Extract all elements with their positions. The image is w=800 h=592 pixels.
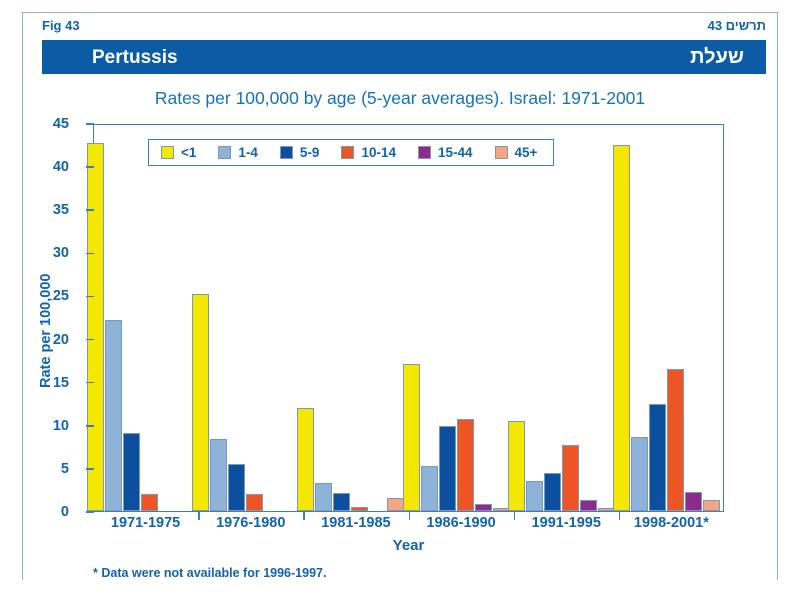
x-axis-tick-mark bbox=[198, 512, 200, 520]
disease-name-hebrew: שעלת bbox=[690, 46, 744, 69]
x-axis-tick-label: 1998-2001* bbox=[634, 515, 709, 531]
bar-1976-1980-10-14 bbox=[246, 494, 263, 511]
bar-1971-1975-10-14 bbox=[141, 494, 158, 511]
x-axis-tick-label: 1986-1990 bbox=[426, 515, 495, 531]
bar-1991-1995-10-14 bbox=[562, 445, 579, 511]
legend-swatch-icon bbox=[161, 146, 174, 159]
chart-legend: <11-45-910-1415-4445+ bbox=[148, 139, 554, 166]
bar-1986-1990-10-14 bbox=[457, 419, 474, 511]
x-axis-tick-label: 1991-1995 bbox=[532, 515, 601, 531]
plot-area bbox=[93, 124, 724, 512]
bar-1971-1975-1-4 bbox=[105, 320, 122, 511]
bar-1981-1985-5-9 bbox=[333, 493, 350, 511]
bar-1986-1990-<1 bbox=[403, 364, 420, 511]
bar-1998-2001*-15-44 bbox=[685, 492, 702, 511]
bar-1971-1975-<1 bbox=[87, 143, 104, 511]
bar-1998-2001*-5-9 bbox=[649, 404, 666, 511]
bar-1986-1990-5-9 bbox=[439, 426, 456, 511]
legend-item-<1: <1 bbox=[161, 145, 196, 160]
legend-label: <1 bbox=[181, 145, 196, 160]
bar-1971-1975-5-9 bbox=[123, 433, 140, 511]
footnote: * Data were not available for 1996-1997. bbox=[93, 566, 326, 580]
legend-label: 10-14 bbox=[361, 145, 396, 160]
legend-swatch-icon bbox=[495, 146, 508, 159]
legend-label: 1-4 bbox=[238, 145, 258, 160]
bar-1976-1980-5-9 bbox=[228, 464, 245, 511]
bar-1991-1995-1-4 bbox=[526, 481, 543, 511]
figure-number-hebrew: תרשים 43 bbox=[708, 18, 766, 33]
bar-1976-1980-<1 bbox=[192, 294, 209, 511]
bar-1991-1995-5-9 bbox=[544, 473, 561, 511]
y-axis-tick-mark bbox=[86, 511, 94, 513]
chart-title: Rates per 100,000 by age (5-year average… bbox=[0, 88, 800, 109]
y-axis-tick-label: 25 bbox=[29, 288, 69, 304]
bar-1981-1985-1-4 bbox=[315, 483, 332, 511]
x-axis-tick-mark bbox=[409, 512, 411, 520]
figure-number: Fig 43 bbox=[42, 18, 80, 33]
y-axis-tick-label: 15 bbox=[29, 375, 69, 391]
x-axis-tick-label: 1981-1985 bbox=[321, 515, 390, 531]
legend-item-1-4: 1-4 bbox=[218, 145, 258, 160]
x-axis-tick-label: 1976-1980 bbox=[216, 515, 285, 531]
bar-1981-1985-10-14 bbox=[351, 507, 368, 511]
legend-item-10-14: 10-14 bbox=[341, 145, 396, 160]
y-axis-tick-label: 20 bbox=[29, 332, 69, 348]
y-axis-tick-label: 0 bbox=[29, 504, 69, 520]
y-axis-tick-label: 35 bbox=[29, 202, 69, 218]
legend-item-45+: 45+ bbox=[495, 145, 538, 160]
legend-swatch-icon bbox=[341, 146, 354, 159]
bar-1981-1985-<1 bbox=[297, 408, 314, 511]
disease-title-bar: Pertussis שעלת bbox=[42, 40, 766, 74]
y-axis-tick-mark bbox=[86, 425, 94, 427]
legend-swatch-icon bbox=[280, 146, 293, 159]
y-axis-tick-label: 45 bbox=[29, 116, 69, 132]
bar-1986-1990-15-44 bbox=[475, 504, 492, 511]
figure-page: Fig 43 תרשים 43 Pertussis שעלת Rates per… bbox=[0, 0, 800, 592]
y-axis-tick-mark bbox=[86, 382, 94, 384]
disease-name-english: Pertussis bbox=[92, 47, 178, 69]
legend-label: 15-44 bbox=[438, 145, 473, 160]
y-axis-tick-mark bbox=[86, 339, 94, 341]
legend-item-15-44: 15-44 bbox=[418, 145, 473, 160]
y-axis-tick-label: 5 bbox=[29, 461, 69, 477]
y-axis-tick-mark bbox=[86, 253, 94, 255]
y-axis-tick-mark bbox=[86, 296, 94, 298]
y-axis-tick-mark bbox=[86, 123, 94, 125]
legend-swatch-icon bbox=[418, 146, 431, 159]
bar-1998-2001*-10-14 bbox=[667, 369, 684, 511]
y-axis-tick-mark bbox=[86, 468, 94, 470]
bar-1986-1990-1-4 bbox=[421, 466, 438, 511]
x-axis-title: Year bbox=[93, 537, 724, 554]
legend-label: 45+ bbox=[515, 145, 538, 160]
y-axis-tick-label: 10 bbox=[29, 418, 69, 434]
x-axis-tick-label: 1971-1975 bbox=[111, 515, 180, 531]
x-axis-tick-mark bbox=[619, 512, 621, 520]
y-axis-tick-mark bbox=[86, 209, 94, 211]
bar-1991-1995-<1 bbox=[508, 421, 525, 511]
y-axis-tick-label: 30 bbox=[29, 245, 69, 261]
legend-swatch-icon bbox=[218, 146, 231, 159]
bar-1991-1995-15-44 bbox=[580, 500, 597, 511]
bar-1998-2001*-1-4 bbox=[631, 437, 648, 511]
x-axis-tick-mark bbox=[514, 512, 516, 520]
y-axis-tick-label: 40 bbox=[29, 159, 69, 175]
bar-1998-2001*-45+ bbox=[703, 500, 720, 511]
y-axis-tick-mark bbox=[86, 166, 94, 168]
bar-1976-1980-1-4 bbox=[210, 439, 227, 511]
bar-1998-2001*-<1 bbox=[613, 145, 630, 511]
legend-item-5-9: 5-9 bbox=[280, 145, 320, 160]
legend-label: 5-9 bbox=[300, 145, 320, 160]
x-axis-tick-mark bbox=[303, 512, 305, 520]
